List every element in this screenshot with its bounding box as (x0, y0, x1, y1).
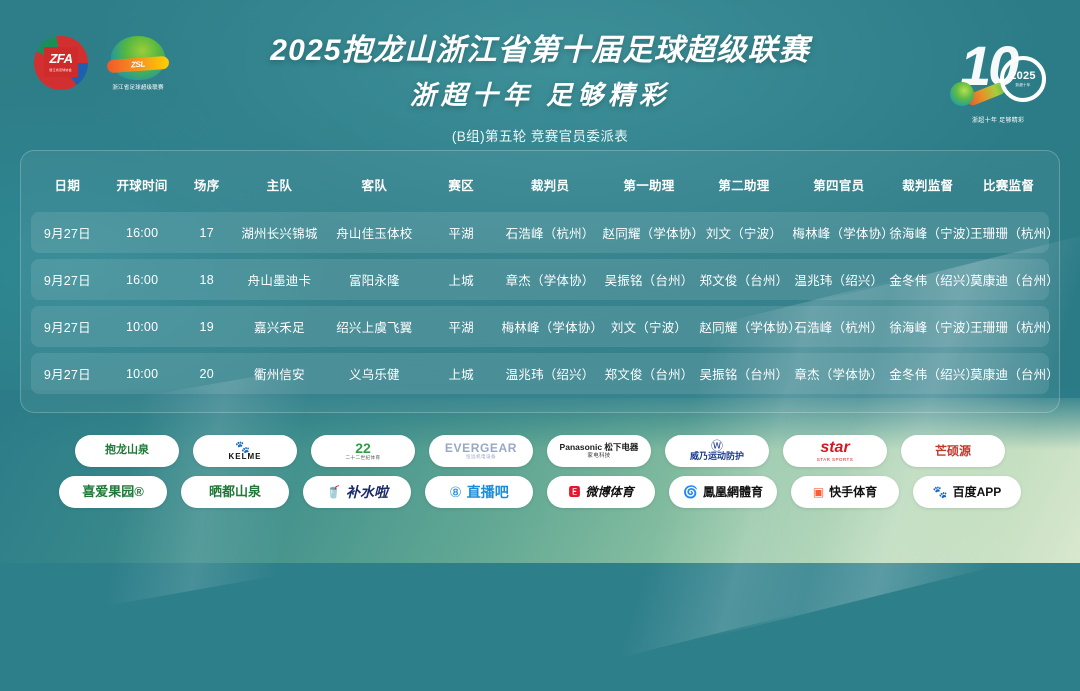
cell-venue: 上城 (423, 259, 500, 300)
sponsor-kelme[interactable]: 🐾 KELME (193, 435, 297, 467)
sponsor-label: 鳳凰網體育 (703, 486, 763, 499)
cell-away: 舟山佳玉体校 (326, 212, 423, 253)
cell-kickoff: 16:00 (104, 259, 181, 300)
sponsor-star[interactable]: star STAR SPORTS (783, 435, 887, 467)
sponsor-label: 抱龙山泉 (105, 445, 149, 457)
cell-date: 9月27日 (31, 306, 104, 347)
cell-home: 衢州信安 (233, 353, 326, 394)
zfa-logo: ZFA 浙江省足球协会 (34, 36, 88, 90)
sponsor-kuaishou-sports[interactable]: ▣ 快手体育 (791, 476, 899, 508)
sponsor-label: 喜爱果园® (82, 485, 144, 499)
zsl-ball-icon: ZSL (111, 36, 165, 80)
sponsor-label: 微博体育 (586, 486, 634, 499)
sponsor-sublabel: 恒远机电设备 (466, 454, 496, 460)
cell-order: 17 (180, 212, 233, 253)
cell-away: 富阳永隆 (326, 259, 423, 300)
sponsor-label: 22 (355, 441, 371, 456)
sponsor-z2[interactable]: 22 二十二世纪体育 (311, 435, 415, 467)
weibo-icon: 🅴 (568, 486, 580, 498)
cell-match-super: 王珊珊（杭州） (968, 212, 1049, 253)
cell-venue: 平湖 (423, 306, 500, 347)
cell-away: 绍兴上虞飞翼 (326, 306, 423, 347)
cell-assistant1: 郑文俊（台州） (601, 353, 698, 394)
cell-date: 9月27日 (31, 259, 104, 300)
cell-venue: 平湖 (423, 212, 500, 253)
zsl-logo-text: ZSL (131, 60, 146, 70)
sponsor-label: 百度APP (953, 486, 1002, 499)
sponsor-sublabel: 家电科技 (587, 451, 610, 459)
sponsor-zhiboba[interactable]: ⑧ 直播吧 (425, 476, 533, 508)
cell-fourth: 章杰（学体协） (790, 353, 887, 394)
sponsor-label: 威乃运动防护 (690, 452, 744, 461)
cell-referee: 梅林峰（学体协） (500, 306, 601, 347)
sponsor-mangshuoyuan[interactable]: 芒硕源 (901, 435, 1005, 467)
table-header: 日期 开球时间 场序 主队 客队 赛区 裁判员 第一助理 第二助理 第四官员 裁… (31, 165, 1049, 206)
column-header-kickoff: 开球时间 (104, 165, 181, 206)
table-row[interactable]: 9月27日 16:00 18 舟山墨迪卡 富阳永隆 上城 章杰（学体协） 吴振铭… (31, 259, 1049, 300)
cell-home: 舟山墨迪卡 (233, 259, 326, 300)
sponsor-evergear[interactable]: EVERGEAR 恒远机电设备 (429, 435, 533, 467)
cell-referee: 章杰（学体协） (500, 259, 601, 300)
anniversary-year-ring: 2025 浙超十年 (1000, 56, 1046, 102)
sponsor-panasonic[interactable]: Panasonic 松下电器 家电科技 (547, 435, 651, 467)
anniversary-year: 2025 (1010, 70, 1036, 82)
cell-assistant2: 郑文俊（台州） (697, 259, 790, 300)
round-title: (B组)第五轮 竞赛官员委派表 (0, 125, 1080, 145)
sponsor-row-1: 抱龙山泉 🐾 KELME 22 二十二世纪体育 EVERGEAR 恒远机电设备 (30, 435, 1050, 467)
sponsor-sublabel: 二十二世纪体育 (346, 455, 381, 461)
cell-order: 18 (180, 259, 233, 300)
column-header-ref-super: 裁判监督 (887, 165, 968, 206)
cell-home: 嘉兴禾足 (233, 306, 326, 347)
column-header-date: 日期 (31, 165, 104, 206)
sponsor-label: 快手体育 (829, 486, 877, 499)
sponsor-baidu-app[interactable]: 🐾 百度APP (913, 476, 1021, 508)
cell-assistant2: 吴振铭（台州） (697, 353, 790, 394)
cell-order: 20 (180, 353, 233, 394)
cell-assistant1: 刘文（宁波） (601, 306, 698, 347)
cell-referee: 温兆玮（绍兴） (500, 353, 601, 394)
cell-fourth: 温兆玮（绍兴） (790, 259, 887, 300)
anniversary-caption: 浙超十年 足够精彩 (972, 115, 1024, 124)
zfa-logo-caption: 浙江省足球协会 (50, 67, 73, 72)
cell-match-super: 莫康迪（台州） (968, 353, 1049, 394)
column-header-away: 客队 (326, 165, 423, 206)
column-header-fourth: 第四官员 (790, 165, 887, 206)
sponsor-baolongshan[interactable]: 抱龙山泉 (75, 435, 179, 467)
cell-date: 9月27日 (31, 212, 104, 253)
sponsor-xiaiguoyuan[interactable]: 喜爱果园® (59, 476, 167, 508)
column-header-home: 主队 (233, 165, 326, 206)
table-header-row: 日期 开球时间 场序 主队 客队 赛区 裁判员 第一助理 第二助理 第四官员 裁… (31, 165, 1049, 206)
zfa-shield-icon: ZFA 浙江省足球协会 (44, 47, 78, 77)
cell-date: 9月27日 (31, 353, 104, 394)
table-body: 9月27日 16:00 17 湖州长兴锦城 舟山佳玉体校 平湖 石浩峰（杭州） … (31, 212, 1049, 394)
paw-icon: 🐾 (235, 441, 250, 453)
sponsor-label: 晒都山泉 (209, 485, 261, 499)
table-row[interactable]: 9月27日 10:00 20 衢州信安 义乌乐健 上城 温兆玮（绍兴） 郑文俊（… (31, 353, 1049, 394)
cell-fourth: 石浩峰（杭州） (790, 306, 887, 347)
officials-table-panel: 日期 开球时间 场序 主队 客队 赛区 裁判员 第一助理 第二助理 第四官员 裁… (20, 150, 1060, 413)
cell-ref-super: 金冬伟（绍兴） (887, 353, 968, 394)
cell-fourth: 梅林峰（学体协） (790, 212, 887, 253)
table-row[interactable]: 9月27日 10:00 19 嘉兴禾足 绍兴上虞飞翼 平湖 梅林峰（学体协） 刘… (31, 306, 1049, 347)
cell-assistant1: 吴振铭（台州） (601, 259, 698, 300)
column-header-match-super: 比赛监督 (968, 165, 1049, 206)
zsl-logo-caption: 浙江省足球超级联赛 (105, 82, 171, 90)
page-header: ZFA 浙江省足球协会 ZSL 浙江省足球超级联赛 2025抱龙山浙江省第十届足… (0, 0, 1080, 150)
zfa-ball-icon: ZFA 浙江省足球协会 (34, 36, 88, 90)
sponsor-label: 直播吧 (467, 485, 509, 500)
left-logo-group: ZFA 浙江省足球协会 ZSL 浙江省足球超级联赛 (34, 36, 174, 91)
sponsor-ifeng-sports[interactable]: 🌀 鳳凰網體育 (669, 476, 777, 508)
cell-ref-super: 金冬伟（绍兴） (887, 259, 968, 300)
cell-kickoff: 16:00 (104, 212, 181, 253)
cell-ref-super: 徐海峰（宁波） (887, 306, 968, 347)
sponsor-sublabel: STAR SPORTS (817, 457, 853, 462)
column-header-assistant2: 第二助理 (697, 165, 790, 206)
column-header-venue: 赛区 (423, 165, 500, 206)
cell-order: 19 (180, 306, 233, 347)
sponsor-section: 抱龙山泉 🐾 KELME 22 二十二世纪体育 EVERGEAR 恒远机电设备 (0, 435, 1080, 508)
cell-ref-super: 徐海峰（宁波） (887, 212, 968, 253)
phoenix-icon: 🌀 (683, 486, 698, 498)
cell-assistant2: 赵同耀（学体协） (697, 306, 790, 347)
sponsor-label: 补水啦 (346, 485, 388, 500)
sponsor-label: 芒硕源 (935, 445, 971, 458)
cell-away: 义乌乐健 (326, 353, 423, 394)
sponsor-row-2: 喜爱果园® 晒都山泉 🥤 补水啦 ⑧ 直播吧 🅴 微博体育 🌀 鳳凰網體育 (30, 476, 1050, 508)
cell-kickoff: 10:00 (104, 306, 181, 347)
zsl-band-icon: ZSL (107, 56, 170, 73)
cell-match-super: 王珊珊（杭州） (968, 306, 1049, 347)
bottle-icon: 🥤 (326, 486, 341, 498)
column-header-assistant1: 第一助理 (601, 165, 698, 206)
kuaishou-icon: ▣ (813, 486, 824, 498)
anniversary-logo: 10 2025 浙超十年 浙超十年 足够精彩 (946, 30, 1058, 130)
cell-venue: 上城 (423, 353, 500, 394)
baidu-icon: 🐾 (933, 486, 948, 498)
column-header-order: 场序 (180, 165, 233, 206)
officials-table: 日期 开球时间 场序 主队 客队 赛区 裁判员 第一助理 第二助理 第四官员 裁… (31, 159, 1049, 400)
cell-referee: 石浩峰（杭州） (500, 212, 601, 253)
column-header-referee: 裁判员 (500, 165, 601, 206)
sponsor-shaidushanquan[interactable]: 晒都山泉 (181, 476, 289, 508)
cell-assistant1: 赵同耀（学体协） (601, 212, 698, 253)
sponsor-label: EVERGEAR (445, 442, 517, 455)
cell-kickoff: 10:00 (104, 353, 181, 394)
sponsor-bushuila[interactable]: 🥤 补水啦 (303, 476, 411, 508)
anniversary-ball-icon (950, 82, 974, 106)
sponsor-weili-sports[interactable]: Ⓦ 威乃运动防护 (665, 435, 769, 467)
sponsor-label: KELME (229, 453, 262, 461)
cell-assistant2: 刘文（宁波） (697, 212, 790, 253)
zsl-logo: ZSL 浙江省足球超级联赛 (102, 36, 174, 91)
sponsor-label: Panasonic 松下电器 (560, 443, 639, 452)
cell-home: 湖州长兴锦城 (233, 212, 326, 253)
cell-match-super: 莫康迪（台州） (968, 259, 1049, 300)
sponsor-label: star (820, 440, 849, 457)
eight-circle-icon: ⑧ (449, 485, 462, 499)
sponsor-weibo-sports[interactable]: 🅴 微博体育 (547, 476, 655, 508)
table-row[interactable]: 9月27日 16:00 17 湖州长兴锦城 舟山佳玉体校 平湖 石浩峰（杭州） … (31, 212, 1049, 253)
zfa-logo-text: ZFA (49, 52, 72, 65)
anniversary-year-sub: 浙超十年 (1015, 83, 1030, 88)
